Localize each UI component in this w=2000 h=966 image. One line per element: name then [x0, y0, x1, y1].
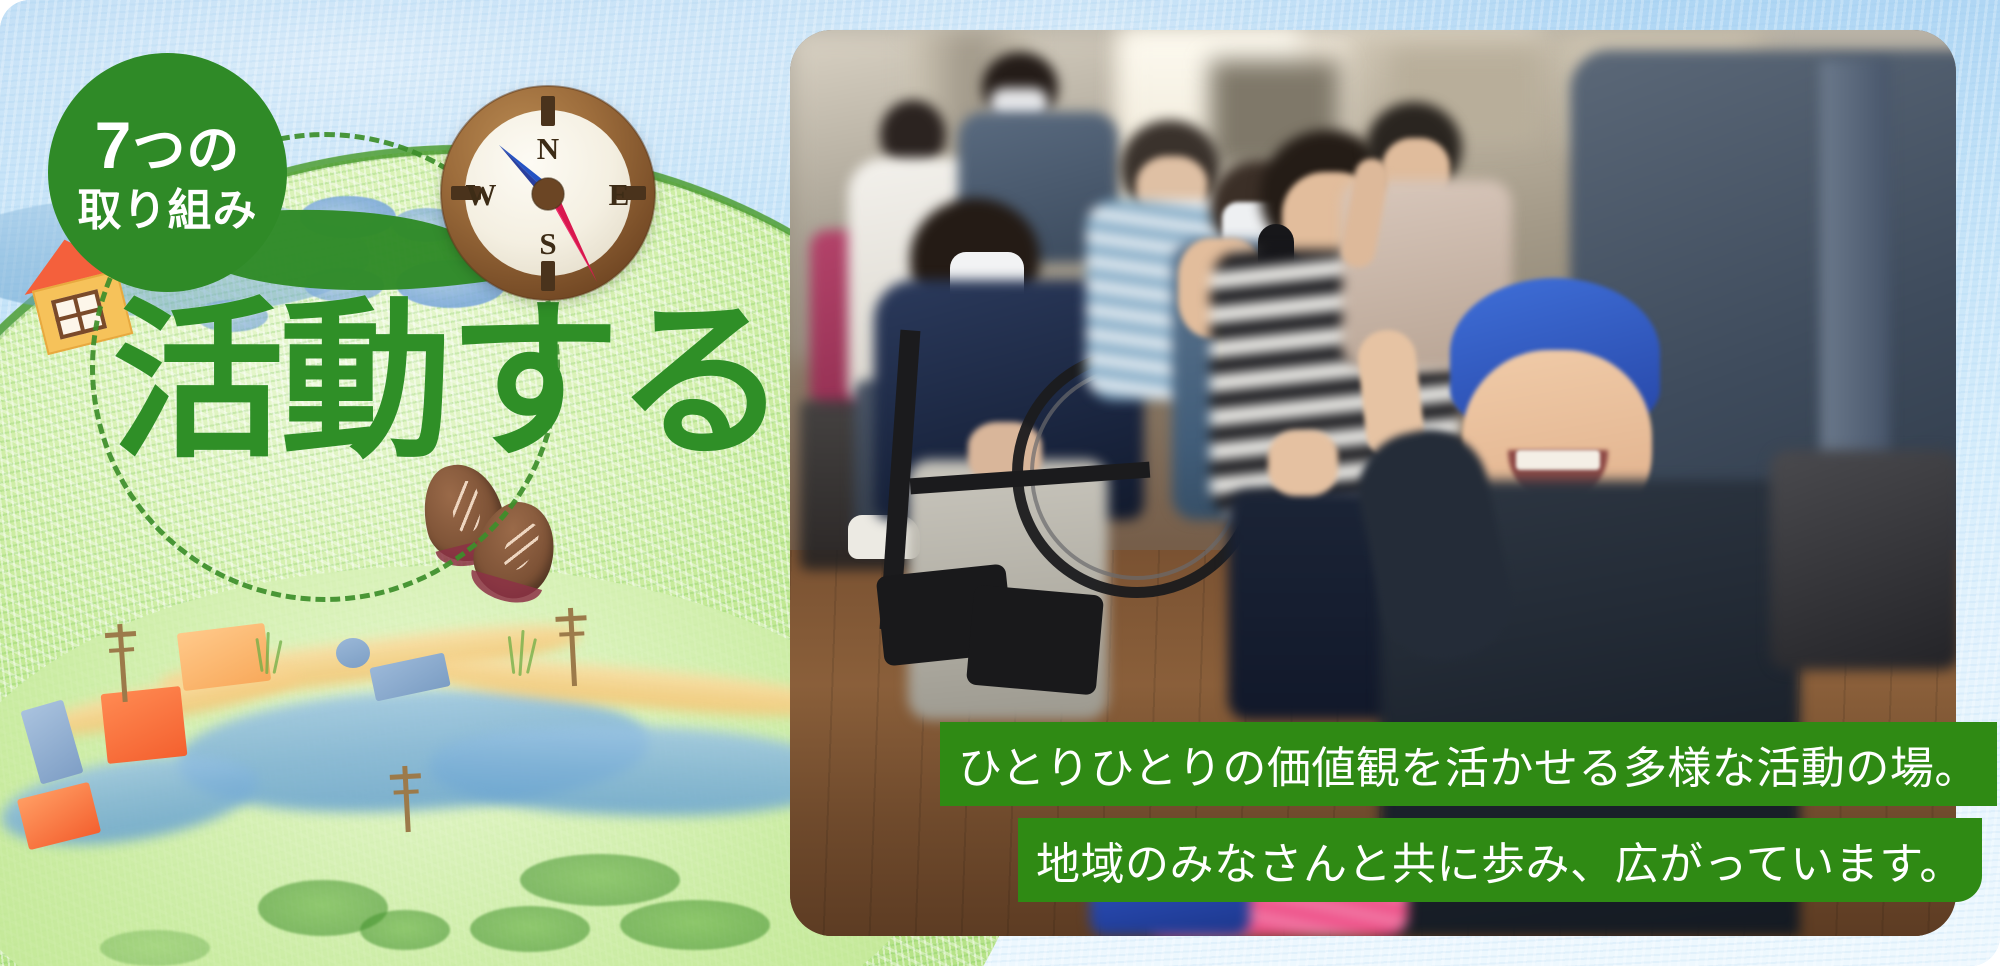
badge-number-suffix: つの: [132, 121, 240, 180]
seven-initiatives-badge: 7つの 取り組み: [48, 53, 287, 292]
bush-shape: [470, 906, 590, 952]
hero-banner: 7つの 取り組み 活動する: [0, 0, 2000, 966]
compass-label-east: E: [609, 177, 630, 212]
compass-icon: N E S W: [437, 82, 660, 305]
compass-label-north: N: [537, 131, 559, 166]
building-orange: [101, 686, 188, 764]
compass-label-south: S: [539, 226, 556, 261]
badge-line-1: 7つの: [95, 110, 241, 181]
caption-line-1: ひとりひとりの価値観を活かせる多様な活動の場。: [940, 722, 1997, 806]
photo-wheelchair-footrest: [966, 585, 1104, 696]
building-yellow: [177, 623, 271, 691]
badge-number: 7: [95, 108, 133, 182]
bush-shape: [520, 854, 680, 906]
photo-hand: [1268, 430, 1338, 496]
bush-shape: [360, 910, 450, 950]
building-blue: [336, 638, 370, 668]
bush-shape: [100, 930, 210, 966]
caption-line-2: 地域のみなさんと共に歩み、広がっています。: [1018, 818, 1982, 902]
photo-teeth: [1516, 450, 1600, 470]
boot-lace: [497, 517, 543, 573]
badge-line-2: 取り組み: [78, 187, 258, 235]
photo-wheelchair-frame: [1770, 450, 1956, 670]
compass-label-west: W: [466, 177, 497, 212]
bush-shape: [620, 900, 770, 950]
page-title: 活動する: [112, 296, 784, 468]
